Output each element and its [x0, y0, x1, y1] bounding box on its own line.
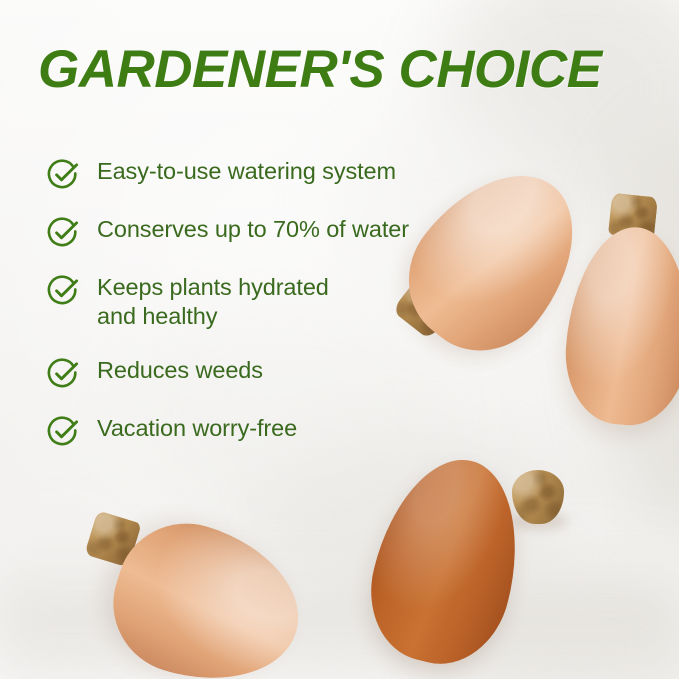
terracotta-watering-spike-bottom-left [86, 500, 346, 679]
check-circle-icon [46, 216, 80, 250]
product-infographic: GARDENER'S CHOICE Easy-to-use watering s… [0, 0, 679, 679]
check-circle-icon [46, 158, 80, 192]
feature-label: Conserves up to 70% of water [97, 214, 409, 244]
feature-label: Keeps plants hydrated and healthy [97, 272, 329, 331]
feature-item: Reduces weeds [46, 355, 446, 391]
feature-item: Conserves up to 70% of water [46, 214, 446, 250]
feature-list: Easy-to-use watering system Conserves up… [46, 156, 446, 471]
feature-label: Vacation worry-free [97, 413, 297, 443]
feature-item: Easy-to-use watering system [46, 156, 446, 192]
check-circle-icon [46, 357, 80, 391]
feature-label: Easy-to-use watering system [97, 156, 396, 186]
cork-stopper [512, 470, 564, 524]
spike-body [560, 222, 679, 430]
check-circle-icon [46, 415, 80, 449]
cork-stopper-loose [510, 468, 570, 530]
feature-item: Keeps plants hydrated and healthy [46, 272, 446, 331]
feature-label: Reduces weeds [97, 355, 263, 385]
terracotta-watering-spike-right [560, 185, 679, 435]
check-circle-icon [46, 274, 80, 308]
feature-item: Vacation worry-free [46, 413, 446, 449]
page-title: GARDENER'S CHOICE [38, 40, 658, 100]
